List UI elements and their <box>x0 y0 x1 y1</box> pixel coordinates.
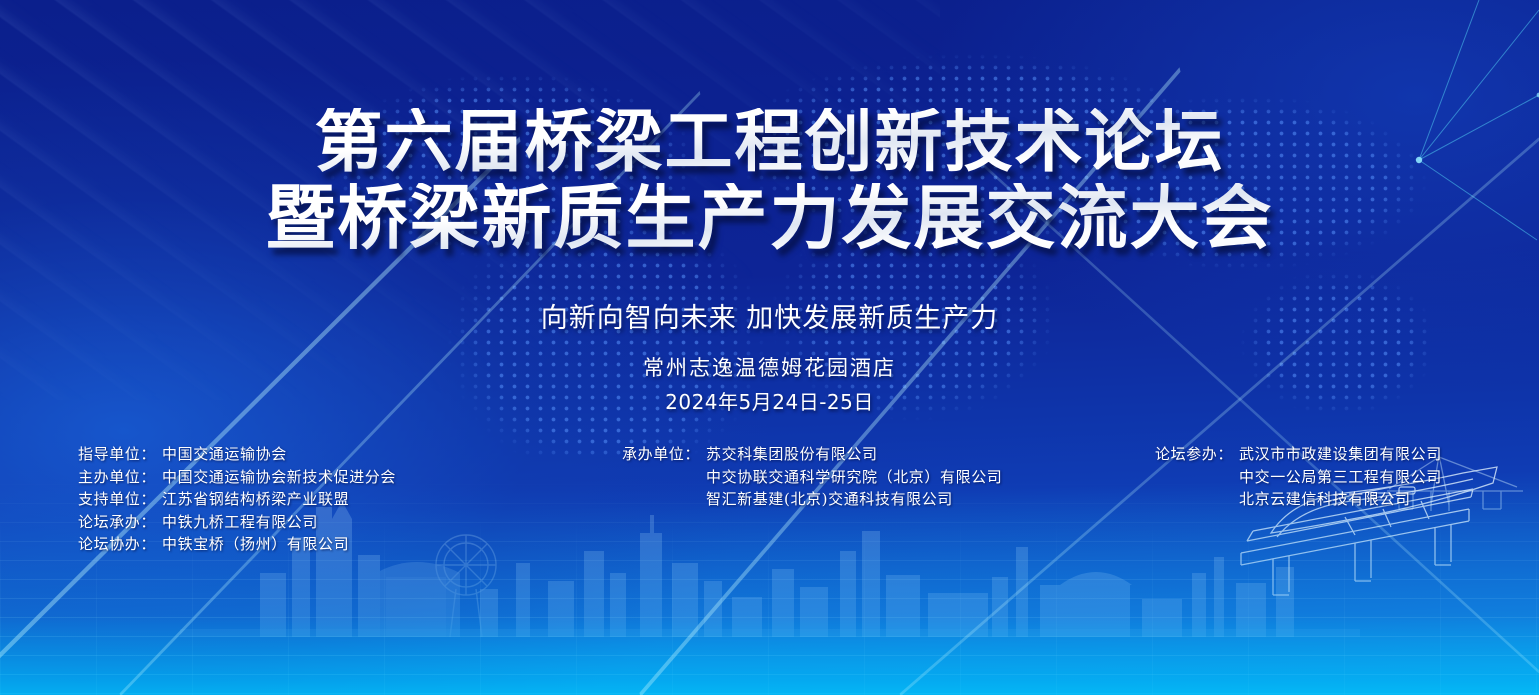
org-label: 支持单位： <box>78 488 162 511</box>
org-value: 中国交通运输协会新技术促进分会 <box>162 466 396 489</box>
org-row: 论坛参办： 中交一公局第三工程有限公司 <box>1155 466 1442 489</box>
org-row: 指导单位： 中国交通运输协会 <box>78 443 396 466</box>
organizations-block: 指导单位： 中国交通运输协会 主办单位： 中国交通运输协会新技术促进分会 支持单… <box>0 443 1539 573</box>
org-label: 主办单位： <box>78 466 162 489</box>
event-date: 2024年5月24日-25日 <box>0 386 1539 415</box>
conference-banner: 第六届桥梁工程创新技术论坛 暨桥梁新质生产力发展交流大会 向新向智向未来 加快发… <box>0 0 1539 695</box>
banner-title-block: 第六届桥梁工程创新技术论坛 暨桥梁新质生产力发展交流大会 <box>0 108 1539 255</box>
org-row: 承办单位： 中交协联交通科学研究院（北京）有限公司 <box>622 466 1002 489</box>
org-value: 苏交科集团股份有限公司 <box>706 443 878 466</box>
org-label: 承办单位： <box>622 443 706 466</box>
org-label: 指导单位： <box>78 443 162 466</box>
organizations-column-left: 指导单位： 中国交通运输协会 主办单位： 中国交通运输协会新技术促进分会 支持单… <box>78 443 396 556</box>
org-value: 中交一公局第三工程有限公司 <box>1239 466 1442 489</box>
title-line-1: 第六届桥梁工程创新技术论坛 <box>0 108 1539 177</box>
venue-name: 常州志逸温德姆花园酒店 <box>0 352 1539 382</box>
org-label: 论坛承办： <box>78 511 162 534</box>
org-row: 论坛协办： 中铁宝桥（扬州）有限公司 <box>78 533 396 556</box>
org-row: 支持单位： 江苏省钢结构桥梁产业联盟 <box>78 488 396 511</box>
org-row: 承办单位： 智汇新基建(北京)交通科技有限公司 <box>622 488 1002 511</box>
org-row: 主办单位： 中国交通运输协会新技术促进分会 <box>78 466 396 489</box>
banner-subtitle: 向新向智向未来 加快发展新质生产力 <box>0 296 1539 335</box>
org-value: 中交协联交通科学研究院（北京）有限公司 <box>706 466 1002 489</box>
org-label: 论坛协办： <box>78 533 162 556</box>
org-value: 江苏省钢结构桥梁产业联盟 <box>162 488 349 511</box>
venue-block: 常州志逸温德姆花园酒店 2024年5月24日-25日 <box>0 352 1539 415</box>
title-line-2: 暨桥梁新质生产力发展交流大会 <box>0 183 1539 254</box>
org-value: 北京云建信科技有限公司 <box>1239 488 1411 511</box>
org-row: 承办单位： 苏交科集团股份有限公司 <box>622 443 1002 466</box>
org-row: 论坛参办： 武汉市市政建设集团有限公司 <box>1155 443 1442 466</box>
org-label: 论坛参办： <box>1155 443 1239 466</box>
org-value: 武汉市市政建设集团有限公司 <box>1239 443 1442 466</box>
organizations-column-right: 论坛参办： 武汉市市政建设集团有限公司 论坛参办： 中交一公局第三工程有限公司 … <box>1155 443 1442 511</box>
org-row: 论坛承办： 中铁九桥工程有限公司 <box>78 511 396 534</box>
org-value: 智汇新基建(北京)交通科技有限公司 <box>706 488 953 511</box>
org-row: 论坛参办： 北京云建信科技有限公司 <box>1155 488 1442 511</box>
organizations-column-middle: 承办单位： 苏交科集团股份有限公司 承办单位： 中交协联交通科学研究院（北京）有… <box>622 443 1002 511</box>
org-value: 中铁九桥工程有限公司 <box>162 511 318 534</box>
org-value: 中国交通运输协会 <box>162 443 287 466</box>
org-value: 中铁宝桥（扬州）有限公司 <box>162 533 349 556</box>
